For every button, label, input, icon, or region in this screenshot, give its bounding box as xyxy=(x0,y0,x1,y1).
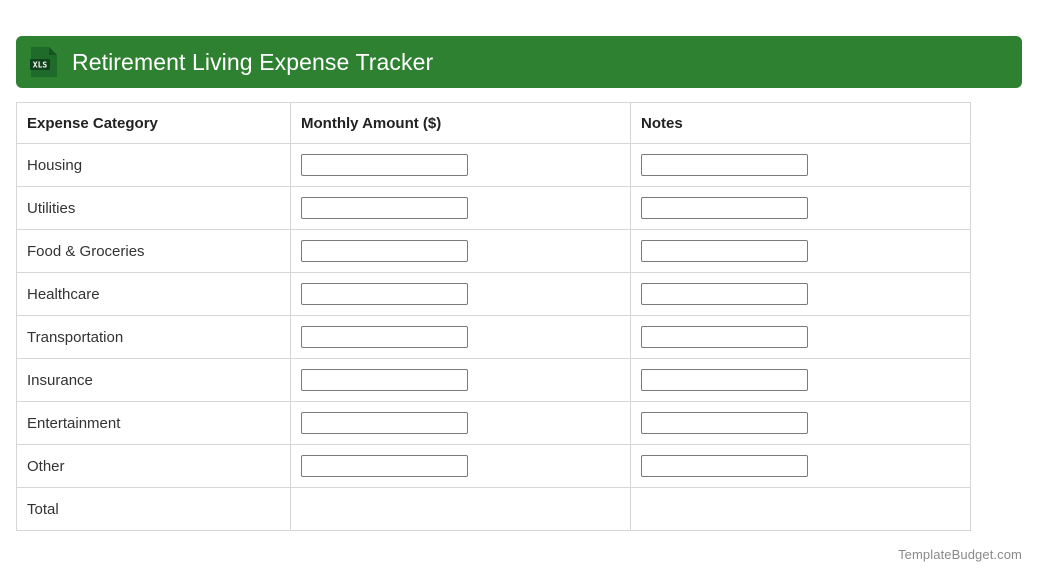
amount-input-utilities[interactable] xyxy=(301,197,468,219)
table-header: Expense Category Monthly Amount ($) Note… xyxy=(17,103,971,144)
cell-monthly-amount xyxy=(291,144,631,187)
notes-input-food-groceries[interactable] xyxy=(641,240,808,262)
cell-notes xyxy=(631,402,971,445)
cell-notes xyxy=(631,230,971,273)
expense-table: Expense Category Monthly Amount ($) Note… xyxy=(16,102,971,531)
cell-notes-total xyxy=(631,488,971,531)
expense-table-container: Expense Category Monthly Amount ($) Note… xyxy=(16,102,970,531)
notes-input-utilities[interactable] xyxy=(641,197,808,219)
table-row: Food & Groceries xyxy=(17,230,971,273)
notes-input-other[interactable] xyxy=(641,455,808,477)
page-root: XLS Retirement Living Expense Tracker Ex… xyxy=(0,0,1040,584)
table-row-total: Total xyxy=(17,488,971,531)
column-header-notes: Notes xyxy=(631,103,971,144)
table-row: Healthcare xyxy=(17,273,971,316)
cell-notes xyxy=(631,273,971,316)
cell-expense-category-total: Total xyxy=(17,488,291,531)
table-row: Transportation xyxy=(17,316,971,359)
amount-input-transportation[interactable] xyxy=(301,326,468,348)
amount-input-other[interactable] xyxy=(301,455,468,477)
cell-notes xyxy=(631,144,971,187)
cell-monthly-amount xyxy=(291,402,631,445)
table-row: Entertainment xyxy=(17,402,971,445)
amount-input-insurance[interactable] xyxy=(301,369,468,391)
column-header-expense-category: Expense Category xyxy=(17,103,291,144)
cell-expense-category: Transportation xyxy=(17,316,291,359)
column-header-monthly-amount: Monthly Amount ($) xyxy=(291,103,631,144)
cell-monthly-amount xyxy=(291,445,631,488)
cell-notes xyxy=(631,316,971,359)
cell-monthly-amount xyxy=(291,187,631,230)
cell-expense-category: Housing xyxy=(17,144,291,187)
cell-notes xyxy=(631,359,971,402)
page-title: Retirement Living Expense Tracker xyxy=(72,51,433,74)
cell-monthly-amount xyxy=(291,230,631,273)
notes-input-healthcare[interactable] xyxy=(641,283,808,305)
cell-notes xyxy=(631,187,971,230)
amount-input-housing[interactable] xyxy=(301,154,468,176)
cell-monthly-amount xyxy=(291,316,631,359)
cell-expense-category: Food & Groceries xyxy=(17,230,291,273)
table-row: Insurance xyxy=(17,359,971,402)
table-row: Utilities xyxy=(17,187,971,230)
amount-input-healthcare[interactable] xyxy=(301,283,468,305)
amount-input-food-groceries[interactable] xyxy=(301,240,468,262)
notes-input-housing[interactable] xyxy=(641,154,808,176)
cell-monthly-amount-total xyxy=(291,488,631,531)
header-banner: XLS Retirement Living Expense Tracker xyxy=(16,36,1022,88)
cell-expense-category: Entertainment xyxy=(17,402,291,445)
table-body: Housing Utilities xyxy=(17,144,971,531)
table-row: Other xyxy=(17,445,971,488)
cell-expense-category: Healthcare xyxy=(17,273,291,316)
cell-notes xyxy=(631,445,971,488)
cell-monthly-amount xyxy=(291,273,631,316)
notes-input-transportation[interactable] xyxy=(641,326,808,348)
xls-file-icon: XLS xyxy=(30,46,58,78)
cell-expense-category: Other xyxy=(17,445,291,488)
table-header-row: Expense Category Monthly Amount ($) Note… xyxy=(17,103,971,144)
cell-monthly-amount xyxy=(291,359,631,402)
footer-attribution: TemplateBudget.com xyxy=(898,547,1022,562)
svg-text:XLS: XLS xyxy=(33,61,48,70)
table-row: Housing xyxy=(17,144,971,187)
cell-expense-category: Insurance xyxy=(17,359,291,402)
notes-input-entertainment[interactable] xyxy=(641,412,808,434)
cell-expense-category: Utilities xyxy=(17,187,291,230)
amount-input-entertainment[interactable] xyxy=(301,412,468,434)
notes-input-insurance[interactable] xyxy=(641,369,808,391)
